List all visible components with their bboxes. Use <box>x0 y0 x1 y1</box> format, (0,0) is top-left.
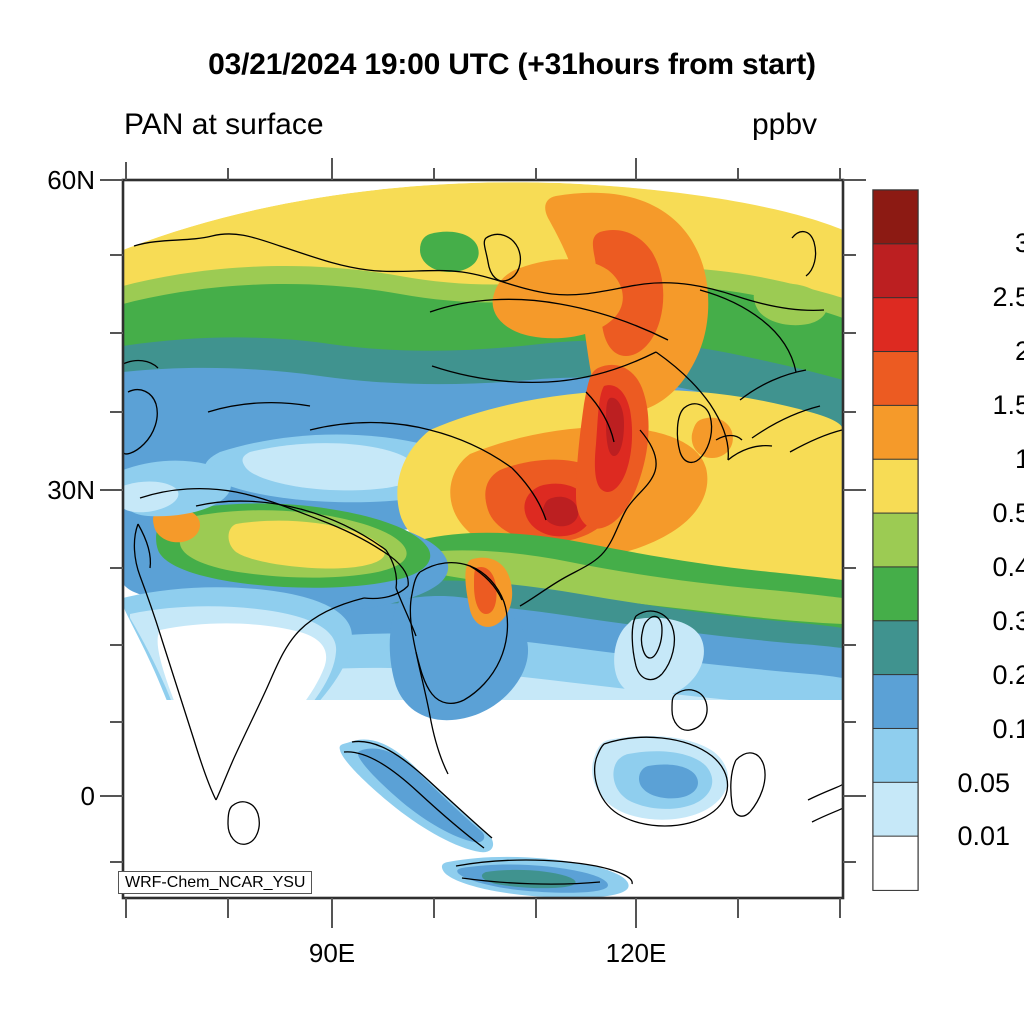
y-axis-ticks <box>100 180 123 862</box>
x-axis-label-90E: 90E <box>272 938 392 969</box>
colorbar-band <box>873 567 918 621</box>
y-axis-label-60N: 60N <box>5 165 95 196</box>
colorbar-band <box>873 513 918 567</box>
colorbar-label-1.5: 1.5 <box>920 390 1024 421</box>
y-axis-label-0: 0 <box>5 781 95 812</box>
x-axis-label-120E: 120E <box>576 938 696 969</box>
colorbar-label-0.4: 0.4 <box>920 552 1024 583</box>
colorbar-label-2.5: 2.5 <box>920 282 1024 313</box>
x-axis-ticks <box>126 898 840 928</box>
colorbar-label-0.01: 0.01 <box>900 821 1010 852</box>
colorbar-label-0.2: 0.2 <box>920 660 1024 691</box>
colorbar-label-0.3: 0.3 <box>920 606 1024 637</box>
colorbar-label-1: 1 <box>920 444 1024 475</box>
colorbar-label-0.1: 0.1 <box>920 714 1024 745</box>
colorbar-band <box>873 459 918 513</box>
colorbar-band <box>873 244 918 298</box>
figure-root: 03/21/2024 19:00 UTC (+31hours from star… <box>0 0 1024 1024</box>
y-axis-ticks-right <box>843 180 866 862</box>
colorbar-band <box>873 190 918 244</box>
model-watermark: WRF-Chem_NCAR_YSU <box>118 871 312 894</box>
colorbar-band <box>873 405 918 459</box>
colorbar-band <box>873 675 918 729</box>
colorbar-label-3: 3 <box>920 228 1024 259</box>
x-axis-ticks-top <box>126 158 840 180</box>
colorbar-band <box>873 621 918 675</box>
contour-field <box>117 182 843 898</box>
colorbar-label-0.5: 0.5 <box>920 498 1024 529</box>
colorbar-band <box>873 352 918 406</box>
y-axis-label-30N: 30N <box>5 475 95 506</box>
colorbar-label-0.05: 0.05 <box>900 768 1010 799</box>
colorbar-label-2: 2 <box>920 336 1024 367</box>
colorbar-band <box>873 298 918 352</box>
